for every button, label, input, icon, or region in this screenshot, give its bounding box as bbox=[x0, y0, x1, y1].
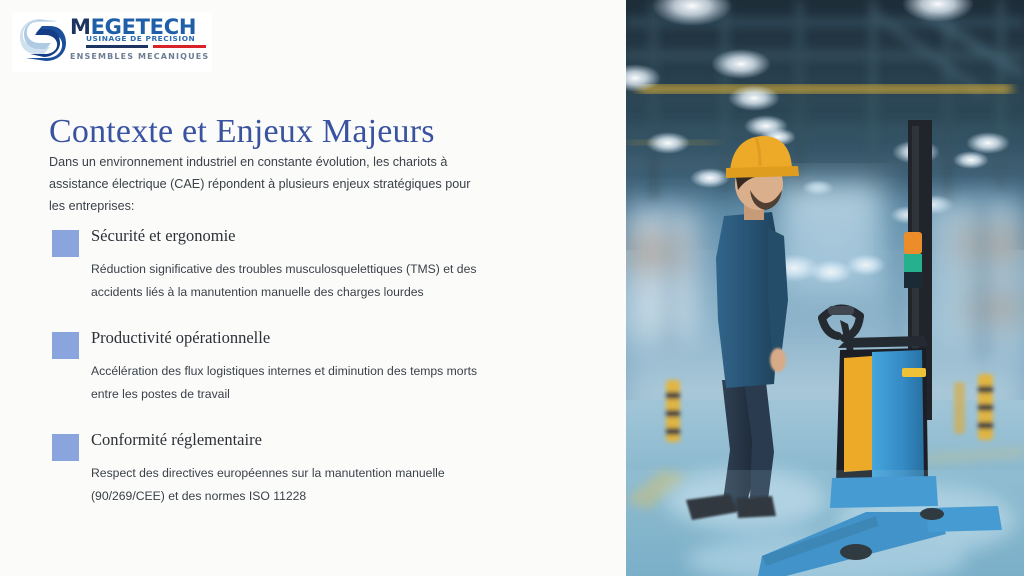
list-item-heading: Conformité réglementaire bbox=[91, 430, 262, 450]
bullet-square-icon bbox=[52, 230, 79, 257]
bullet-square-icon bbox=[52, 434, 79, 461]
logo-divider-navy bbox=[86, 45, 148, 48]
company-logo: MEGETECH USINAGE DE PRECISION ENSEMBLES … bbox=[12, 12, 212, 72]
logo-divider bbox=[86, 45, 206, 48]
presentation-slide: MEGETECH USINAGE DE PRECISION ENSEMBLES … bbox=[0, 0, 1024, 576]
list-item-description: Réduction significative des troubles mus… bbox=[91, 258, 491, 304]
logo-wordmark: MEGETECH USINAGE DE PRECISION ENSEMBLES … bbox=[70, 16, 210, 61]
key-issues-list: Sécurité et ergonomie Réduction signific… bbox=[0, 226, 626, 532]
list-item-heading: Sécurité et ergonomie bbox=[91, 226, 235, 246]
logo-tagline: ENSEMBLES MECANIQUES bbox=[70, 52, 210, 61]
list-item: Conformité réglementaire Respect des dir… bbox=[0, 430, 626, 510]
list-item-description: Respect des directives européennes sur l… bbox=[91, 462, 491, 508]
logo-subtitle: USINAGE DE PRECISION bbox=[86, 34, 210, 43]
list-item-description: Accélération des flux logistiques intern… bbox=[91, 360, 491, 406]
logo-divider-red bbox=[153, 45, 206, 48]
megetech-swoosh-logo-icon bbox=[16, 16, 70, 66]
list-item: Sécurité et ergonomie Réduction signific… bbox=[0, 226, 626, 306]
bullet-square-icon bbox=[52, 332, 79, 359]
content-panel: MEGETECH USINAGE DE PRECISION ENSEMBLES … bbox=[0, 0, 626, 576]
warehouse-photo bbox=[626, 0, 1024, 576]
list-item: Productivité opérationnelle Accélération… bbox=[0, 328, 626, 408]
page-title: Contexte et Enjeux Majeurs bbox=[49, 113, 435, 151]
intro-paragraph: Dans un environnement industriel en cons… bbox=[49, 151, 489, 217]
list-item-heading: Productivité opérationnelle bbox=[91, 328, 270, 348]
